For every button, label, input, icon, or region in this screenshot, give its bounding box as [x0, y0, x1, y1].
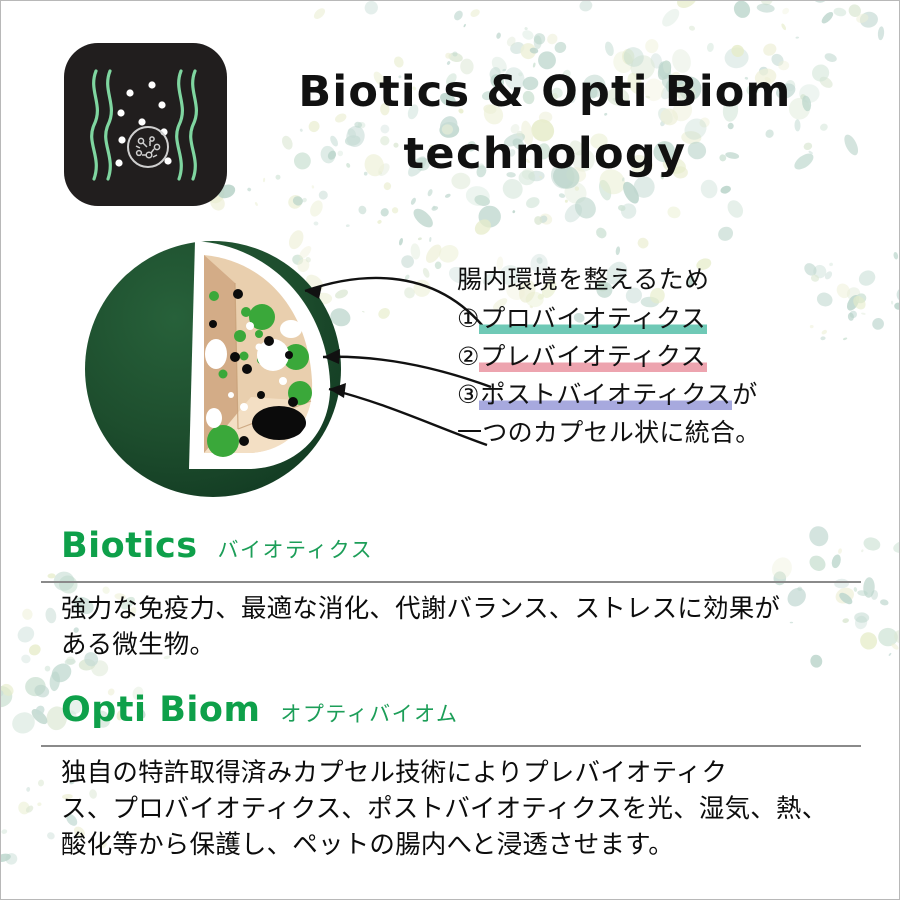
section-biotics-body: 強力な免疫力、最適な消化、代謝バランス、ストレスに効果が ある微生物。: [1, 583, 900, 663]
callout-item-1-number: ①: [457, 304, 479, 333]
title-block: Biotics & Opti Biom technology: [245, 61, 845, 186]
callout-item-1: ①プロバイオティクス: [457, 306, 867, 331]
diagram: 腸内環境を整えるため ①プロバイオティクス ②プレバイオティクス ③ポストバイオ…: [1, 229, 900, 519]
callout-heading: 腸内環境を整えるため: [457, 267, 867, 292]
callout-item-1-label: プロバイオティクス: [479, 304, 706, 335]
section-optibiom-header: Opti Biom オプティバイオム: [1, 693, 900, 739]
germ-circle-icon: [128, 127, 168, 167]
section-optibiom-body-line-3: 酸化等から保護し、ペットの腸内へと浸透させます。: [61, 827, 853, 863]
gut-microbiome-icon: [64, 43, 227, 206]
callout-item-3-suffix: が: [732, 380, 757, 409]
callout-closing: 一つのカプセル状に統合。: [457, 420, 867, 445]
callout-item-2-label: プレバイオティクス: [479, 342, 706, 373]
section-optibiom-title: Opti Biom: [61, 693, 260, 728]
poster-root: Biotics & Opti Biom technology: [0, 0, 900, 900]
section-optibiom-body: 独自の特許取得済みカプセル技術によりプレバイオティク ス、プロバイオティクス、ポ…: [1, 747, 900, 864]
section-optibiom-body-line-2: ス、プロバイオティクス、ポストバイオティクスを光、湿気、熱、: [61, 791, 853, 827]
callout-item-2-number: ②: [457, 342, 479, 371]
logo-tile: [64, 43, 227, 206]
section-biotics-header: Biotics バイオティクス: [1, 529, 900, 575]
callout-item-3-number: ③: [457, 380, 479, 409]
page-title-line-1: Biotics & Opti Biom: [245, 61, 845, 123]
section-biotics-subtitle: バイオティクス: [218, 540, 374, 561]
section-optibiom-body-line-1: 独自の特許取得済みカプセル技術によりプレバイオティク: [61, 755, 853, 791]
callout-item-2: ②プレバイオティクス: [457, 344, 867, 369]
callout-list: 腸内環境を整えるため ①プロバイオティクス ②プレバイオティクス ③ポストバイオ…: [457, 267, 867, 458]
section-biotics-body-line-2: ある微生物。: [61, 627, 853, 663]
page-title-line-2: technology: [245, 123, 845, 185]
section-biotics: Biotics バイオティクス 強力な免疫力、最適な消化、代謝バランス、ストレス…: [1, 529, 900, 663]
section-biotics-title: Biotics: [61, 529, 198, 564]
section-biotics-body-line-1: 強力な免疫力、最適な消化、代謝バランス、ストレスに効果が: [61, 591, 853, 627]
section-optibiom-subtitle: オプティバイオム: [280, 704, 458, 725]
callout-item-3: ③ポストバイオティクスが: [457, 382, 867, 407]
section-optibiom: Opti Biom オプティバイオム 独自の特許取得済みカプセル技術によりプレバ…: [1, 693, 900, 864]
callout-item-3-label: ポストバイオティクス: [479, 380, 732, 411]
header: Biotics & Opti Biom technology: [1, 25, 900, 215]
